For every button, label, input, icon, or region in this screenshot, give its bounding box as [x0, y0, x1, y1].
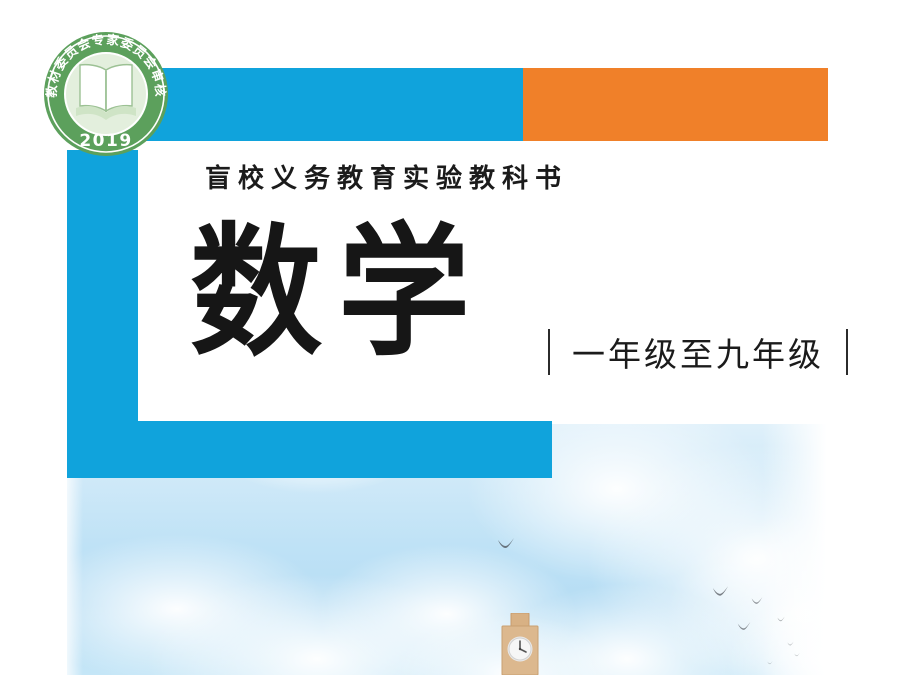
left-blue-band — [67, 150, 138, 421]
seal-year: 2019 — [79, 131, 132, 151]
top-orange-band — [523, 68, 828, 141]
grade-range: 一年级至九年级 — [548, 328, 848, 376]
approval-seal: 国家教材委员会专家委员会审核通过 2019 — [42, 30, 170, 158]
textbook-cover: 国家教材委员会专家委员会审核通过 2019 盲校义务教育实验教科书 数学 一年级… — [0, 0, 900, 675]
grade-range-label: 一年级至九年级 — [572, 328, 824, 376]
sky-right-fade — [762, 424, 832, 675]
clock-tower-icon — [496, 613, 544, 675]
page-title: 数学 — [190, 222, 486, 365]
grade-rule-right — [846, 329, 848, 375]
grade-rule-left — [548, 329, 550, 375]
top-blue-band — [115, 68, 523, 141]
series-line: 盲校义务教育实验教科书 — [205, 158, 568, 195]
bottom-blue-band — [67, 421, 552, 478]
